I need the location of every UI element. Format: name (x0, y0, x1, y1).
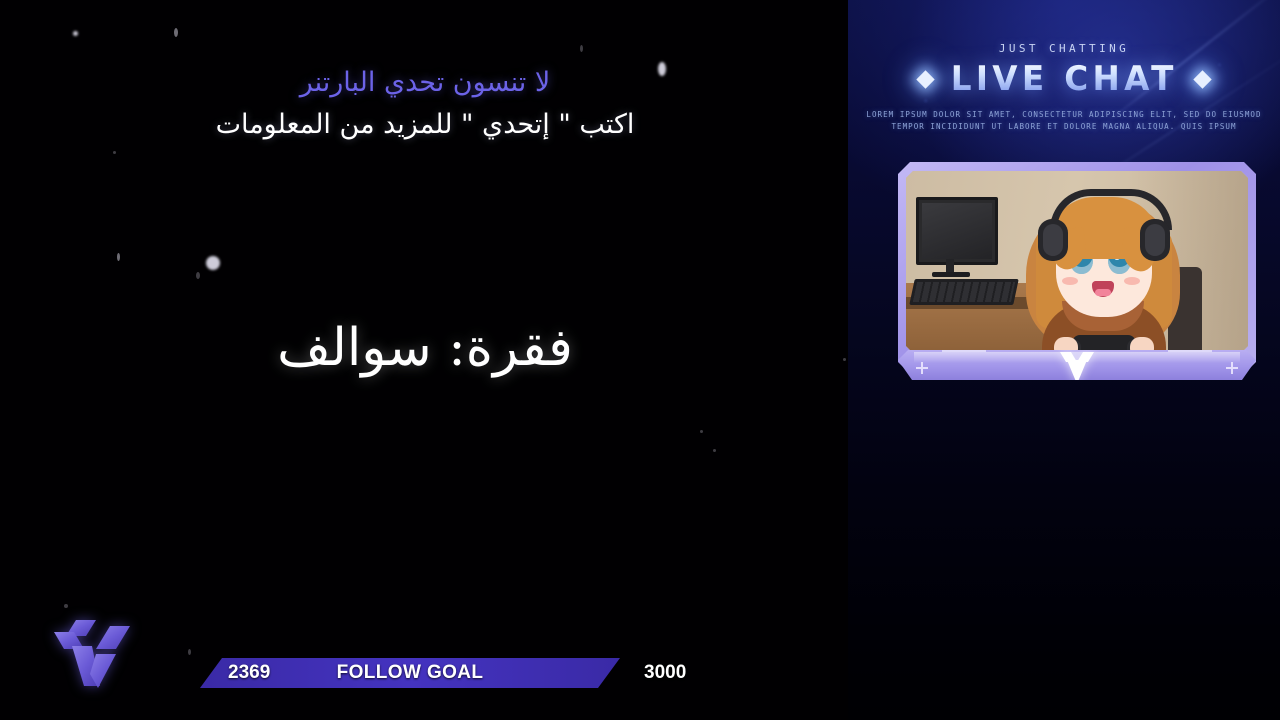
particle-dot (700, 430, 703, 433)
particle-dot (174, 28, 178, 37)
monitor-stand (946, 259, 954, 273)
particle-dot (580, 45, 583, 52)
announcement-line-2: اكتب " إتحدي " للمزيد من المعلومات (0, 106, 850, 144)
segment-title: فقرة: سوالف (0, 318, 850, 378)
panel-title-row: LIVE CHAT (848, 59, 1280, 99)
plus-icon (916, 362, 928, 374)
keyboard-icon (909, 279, 1019, 305)
avatar-blush (1124, 277, 1140, 285)
diamond-icon (916, 70, 934, 88)
follow-goal-target: 3000 (644, 658, 686, 688)
webcam-frame (898, 162, 1256, 374)
panel-kicker: JUST CHATTING (848, 42, 1280, 55)
particle-dot (73, 31, 78, 36)
follow-goal-widget: 2369 FOLLOW GOAL 3000 (200, 658, 700, 688)
announcement-text: لا تنسون تحدي البارتنر اكتب " إتحدي " لل… (0, 64, 850, 145)
main-stage-area: لا تنسون تحدي البارتنر اكتب " إتحدي " لل… (0, 0, 850, 720)
panel-header: JUST CHATTING LIVE CHAT LOREM IPSUM DOLO… (848, 42, 1280, 134)
particle-dot (206, 256, 220, 270)
panel-title: LIVE CHAT (950, 59, 1177, 99)
particle-dot (188, 649, 191, 655)
live-chat-panel: JUST CHATTING LIVE CHAT LOREM IPSUM DOLO… (848, 0, 1280, 720)
headphone-earcup (1038, 219, 1068, 261)
avatar-blush (1062, 277, 1078, 285)
monitor-base (932, 272, 970, 277)
nameplate-tick (1168, 350, 1212, 352)
nameplate-tick (942, 350, 986, 352)
stream-overlay: لا تنسون تحدي البارتنر اكتب " إتحدي " لل… (0, 0, 1280, 720)
particle-dot (117, 253, 120, 261)
announcement-line-1: لا تنسون تحدي البارتنر (0, 64, 850, 102)
avatar (1018, 185, 1188, 353)
webcam-feed (906, 171, 1248, 353)
panel-description: LOREM IPSUM DOLOR SIT AMET, CONSECTETUR … (848, 109, 1280, 134)
panel-description-line-2: TEMPOR INCIDIDUNT UT LABORE ET DOLORE MA… (848, 121, 1280, 133)
diamond-icon (1194, 70, 1212, 88)
webcam-nameplate (898, 350, 1256, 380)
plus-icon (1226, 362, 1238, 374)
headphone-earcup (1140, 219, 1170, 261)
follow-goal-label: FOLLOW GOAL (200, 658, 620, 688)
particle-dot (113, 151, 116, 154)
particle-dot (196, 272, 200, 279)
vtuber-v-logo (50, 602, 138, 690)
v-crest-emblem (1054, 344, 1100, 386)
particle-dot (713, 449, 716, 452)
panel-description-line-1: LOREM IPSUM DOLOR SIT AMET, CONSECTETUR … (848, 109, 1280, 121)
monitor-icon (916, 197, 998, 265)
